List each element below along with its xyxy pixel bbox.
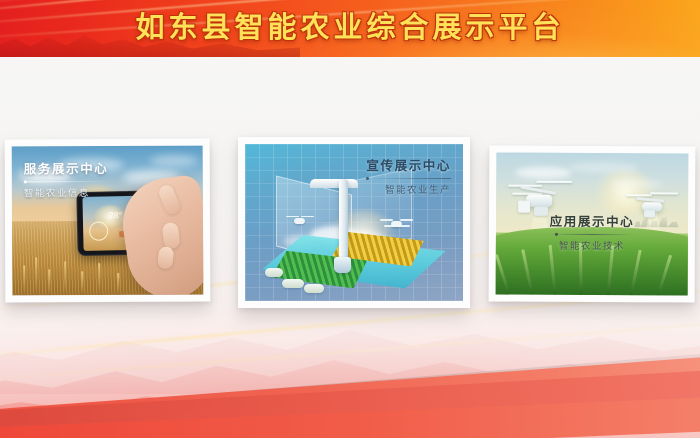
card-promotion-frame: 宣传展示中心 智能农业生产 (245, 144, 463, 301)
cloud-shape (611, 179, 663, 189)
hud-ring-small-icon (89, 221, 108, 240)
cloud-shape (149, 155, 197, 167)
card-service-caption: 服务展示中心 智能农业信息 (24, 158, 109, 199)
card-service-artwork: 28° (12, 146, 204, 296)
card-application-title: 应用展示中心 (496, 210, 688, 230)
card-promotion-subtitle: 智能农业生产 (366, 182, 451, 196)
cloud-shape (569, 161, 639, 172)
card-application-caption: 应用展示中心 智能农业技术 (496, 210, 688, 252)
card-service-display-center[interactable]: 28° (5, 139, 211, 303)
card-service-frame: 28° (12, 146, 204, 296)
wheat-stalk (81, 271, 83, 295)
card-promotion-display-center[interactable]: 宣传展示中心 智能农业生产 (238, 137, 470, 308)
caption-divider (549, 234, 635, 235)
page-header: 如东县智能农业综合展示平台 (0, 0, 700, 57)
wheat-stalk (35, 257, 37, 295)
card-service-title: 服务展示中心 (24, 158, 109, 177)
ar-temperature-readout: 28° (109, 210, 123, 220)
card-promotion-title: 宣传展示中心 (366, 155, 451, 174)
lamp-post (339, 179, 348, 270)
hay-roll (304, 284, 324, 293)
card-application-frame: 应用展示中心 智能农业技术 (496, 152, 689, 295)
drone-icon (380, 216, 414, 230)
card-promotion-caption: 宣传展示中心 智能农业生产 (366, 155, 451, 196)
card-promotion-artwork: 宣传展示中心 智能农业生产 (245, 144, 463, 301)
card-service-subtitle: 智能农业信息 (24, 185, 109, 199)
card-application-artwork: 应用展示中心 智能农业技术 (496, 152, 689, 295)
card-application-subtitle: 智能农业技术 (496, 237, 688, 252)
wheat-stalk (117, 273, 119, 295)
lamp-arm (310, 179, 358, 188)
app-root: 如东县智能农业综合展示平台 28° (0, 0, 700, 438)
hay-roll (265, 268, 283, 277)
card-application-display-center[interactable]: 应用展示中心 智能农业技术 (489, 145, 696, 302)
wheat-stalk (98, 263, 100, 295)
drone-icon (286, 213, 314, 225)
caption-divider (24, 181, 109, 182)
caption-divider (366, 178, 451, 179)
water-bucket (334, 257, 351, 273)
wheat-stalk (64, 261, 66, 295)
page-title: 如东县智能农业综合展示平台 (0, 9, 700, 47)
hay-roll (282, 279, 304, 288)
